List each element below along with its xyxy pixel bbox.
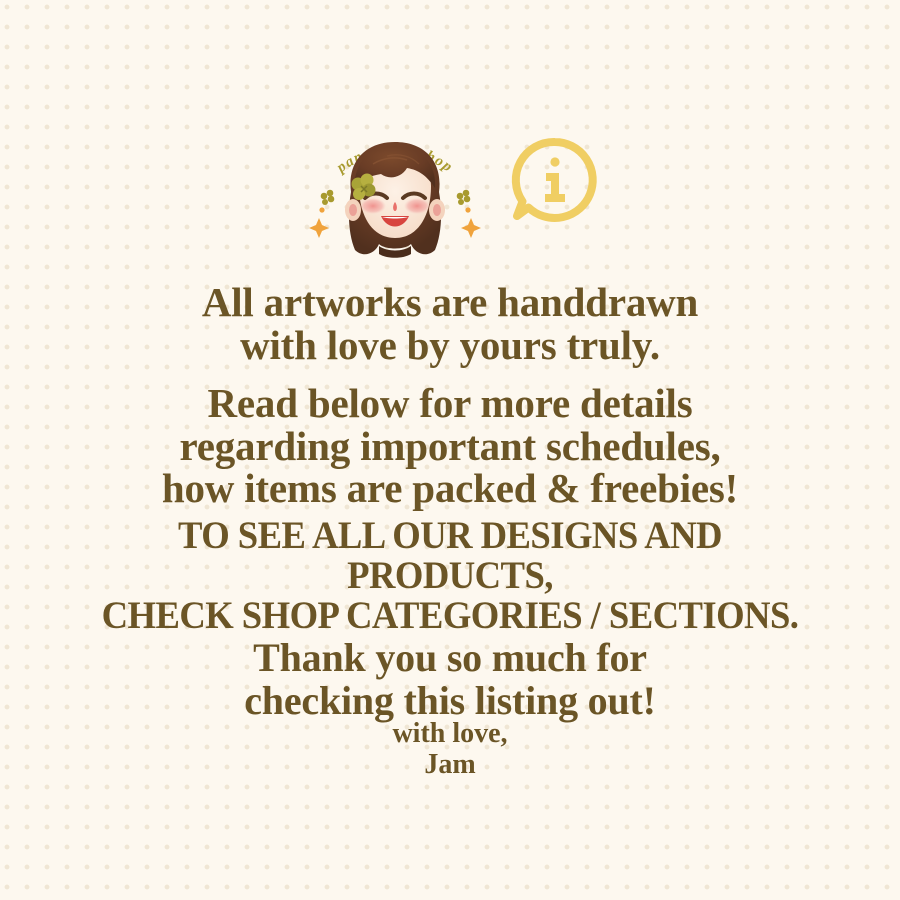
- clover-decor-left: [321, 190, 335, 205]
- signoff-message: with love, Jam: [0, 718, 900, 781]
- shop-logo-illustration: papervaicashop: [295, 118, 495, 278]
- thanks-line-1: Thank you so much for: [0, 636, 900, 679]
- signoff-line-1: with love,: [0, 718, 900, 749]
- info-dot: [550, 157, 559, 166]
- clover-decor-right: [457, 190, 471, 205]
- read-below-message: Read below for more details regarding im…: [0, 382, 900, 510]
- thanks-line-2: checking this listing out!: [0, 679, 900, 722]
- designs-notice-line-3: CHECK SHOP CATEGORIES / SECTIONS.: [27, 596, 873, 636]
- ear-inner-right: [433, 204, 441, 216]
- shop-logo: papervaicashop: [295, 118, 495, 278]
- ear-inner-left: [349, 204, 357, 216]
- blush-left: [360, 198, 386, 214]
- designs-notice-message: TO SEE ALL OUR DESIGNS AND PRODUCTS, CHE…: [27, 516, 873, 635]
- sparkle-left: [309, 207, 329, 238]
- info-letter-i: [545, 173, 565, 202]
- header: papervaicashop: [0, 118, 900, 278]
- designs-notice-line-2: PRODUCTS,: [27, 556, 873, 596]
- poster-canvas: papervaicashop: [0, 0, 900, 900]
- designs-notice-line-1: TO SEE ALL OUR DESIGNS AND: [27, 516, 873, 556]
- handdrawn-message: All artworks are handdrawn with love by …: [0, 281, 900, 366]
- info-icon[interactable]: [505, 132, 605, 242]
- handdrawn-line-2: with love by yours truly.: [0, 324, 900, 367]
- thanks-message: Thank you so much for checking this list…: [0, 636, 900, 722]
- signoff-line-2: Jam: [0, 749, 900, 780]
- read-below-line-3: how items are packed & freebies!: [0, 467, 900, 510]
- handdrawn-line-1: All artworks are handdrawn: [0, 281, 900, 324]
- read-below-line-2: regarding important schedules,: [0, 425, 900, 468]
- read-below-line-1: Read below for more details: [0, 382, 900, 425]
- sparkle-right: [461, 207, 481, 238]
- info-icon-wrapper[interactable]: [505, 132, 605, 252]
- blush-right: [404, 198, 430, 214]
